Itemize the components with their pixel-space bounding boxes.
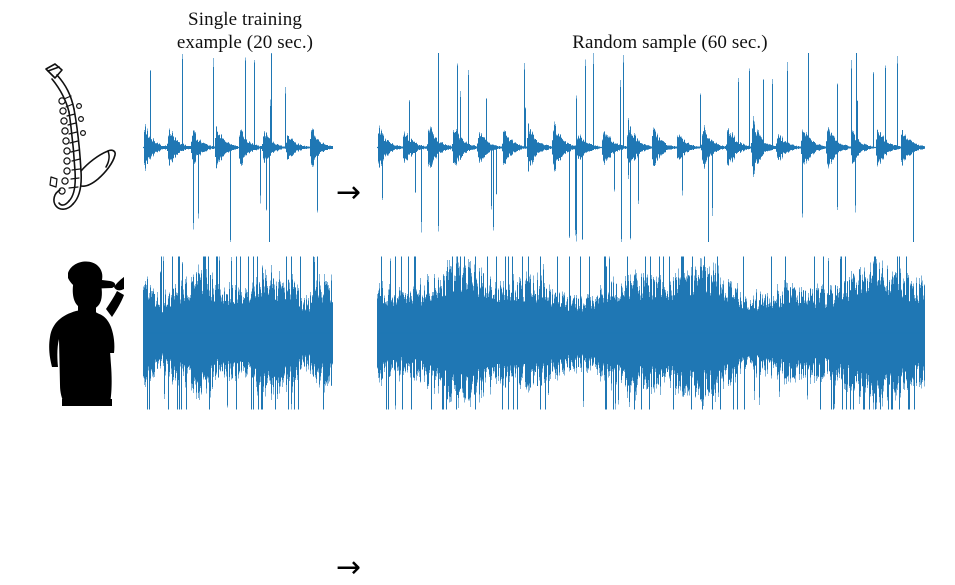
column-title-training-example: Single training example (20 sec.) [140, 8, 350, 54]
rapper-silhouette-icon-glyph [24, 253, 124, 408]
rapper-silhouette-icon [18, 250, 130, 410]
saxophone-icon-glyph [24, 59, 124, 229]
saxophone-icon [18, 54, 130, 234]
arrow-right-icon-saxophone: → [336, 178, 361, 208]
waveform-saxophone-training [143, 50, 333, 245]
waveform-plot [143, 254, 333, 412]
waveform-plot [143, 50, 333, 245]
waveform-plot [377, 254, 925, 412]
waveform-rapper-training [143, 254, 333, 412]
waveform-saxophone-sample [377, 50, 925, 245]
arrow-right-icon-rapper: → [336, 553, 361, 583]
row-saxophone: → [0, 50, 955, 245]
row-rapper: → [0, 248, 955, 413]
waveform-plot [377, 50, 925, 245]
waveform-rapper-sample [377, 254, 925, 412]
